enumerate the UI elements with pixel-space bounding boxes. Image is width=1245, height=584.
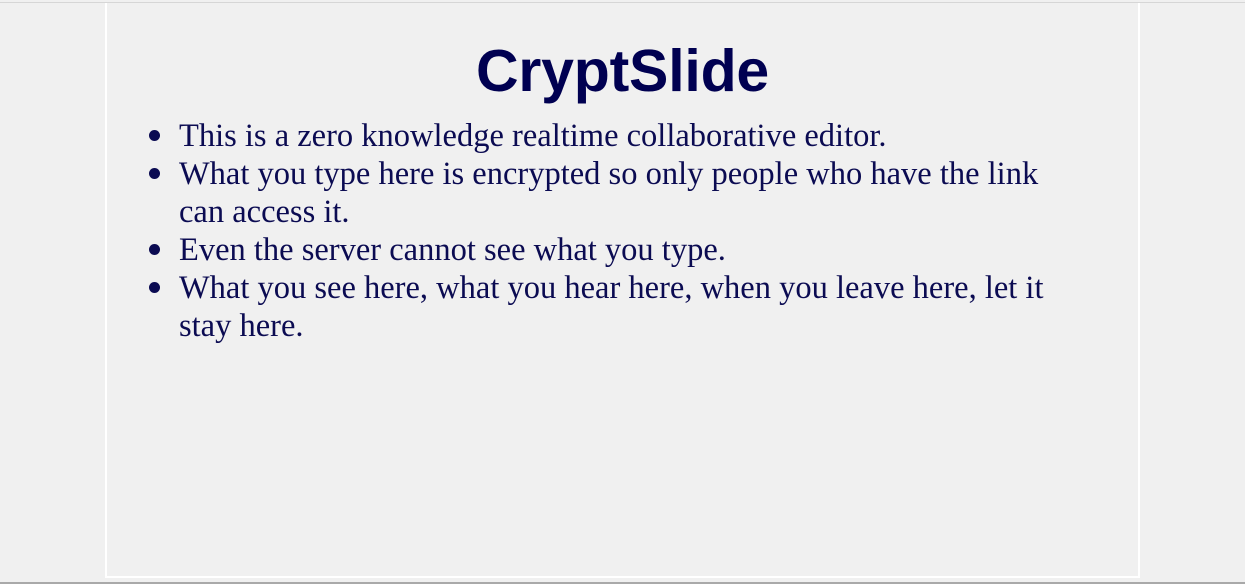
bullet-item-text[interactable]: What you type here is encrypted so only … (179, 155, 1083, 231)
bullet-item-text[interactable]: Even the server cannot see what you type… (179, 231, 1083, 269)
bullet-dot-icon (149, 130, 160, 141)
slide-bullet-list[interactable]: This is a zero knowledge realtime collab… (107, 117, 1138, 345)
slide-canvas[interactable]: CryptSlide This is a zero knowledge real… (105, 3, 1140, 578)
bullet-dot-icon (149, 282, 160, 293)
bullet-item[interactable]: What you type here is encrypted so only … (107, 155, 1138, 231)
bullet-item[interactable]: This is a zero knowledge realtime collab… (107, 117, 1138, 155)
bullet-dot-icon (149, 168, 160, 179)
bullet-item[interactable]: What you see here, what you hear here, w… (107, 269, 1138, 345)
bullet-dot-icon (149, 244, 160, 255)
bullet-item-text[interactable]: This is a zero knowledge realtime collab… (179, 117, 1083, 155)
slide-title[interactable]: CryptSlide (107, 3, 1138, 103)
bullet-item[interactable]: Even the server cannot see what you type… (107, 231, 1138, 269)
bullet-item-text[interactable]: What you see here, what you hear here, w… (179, 269, 1083, 345)
